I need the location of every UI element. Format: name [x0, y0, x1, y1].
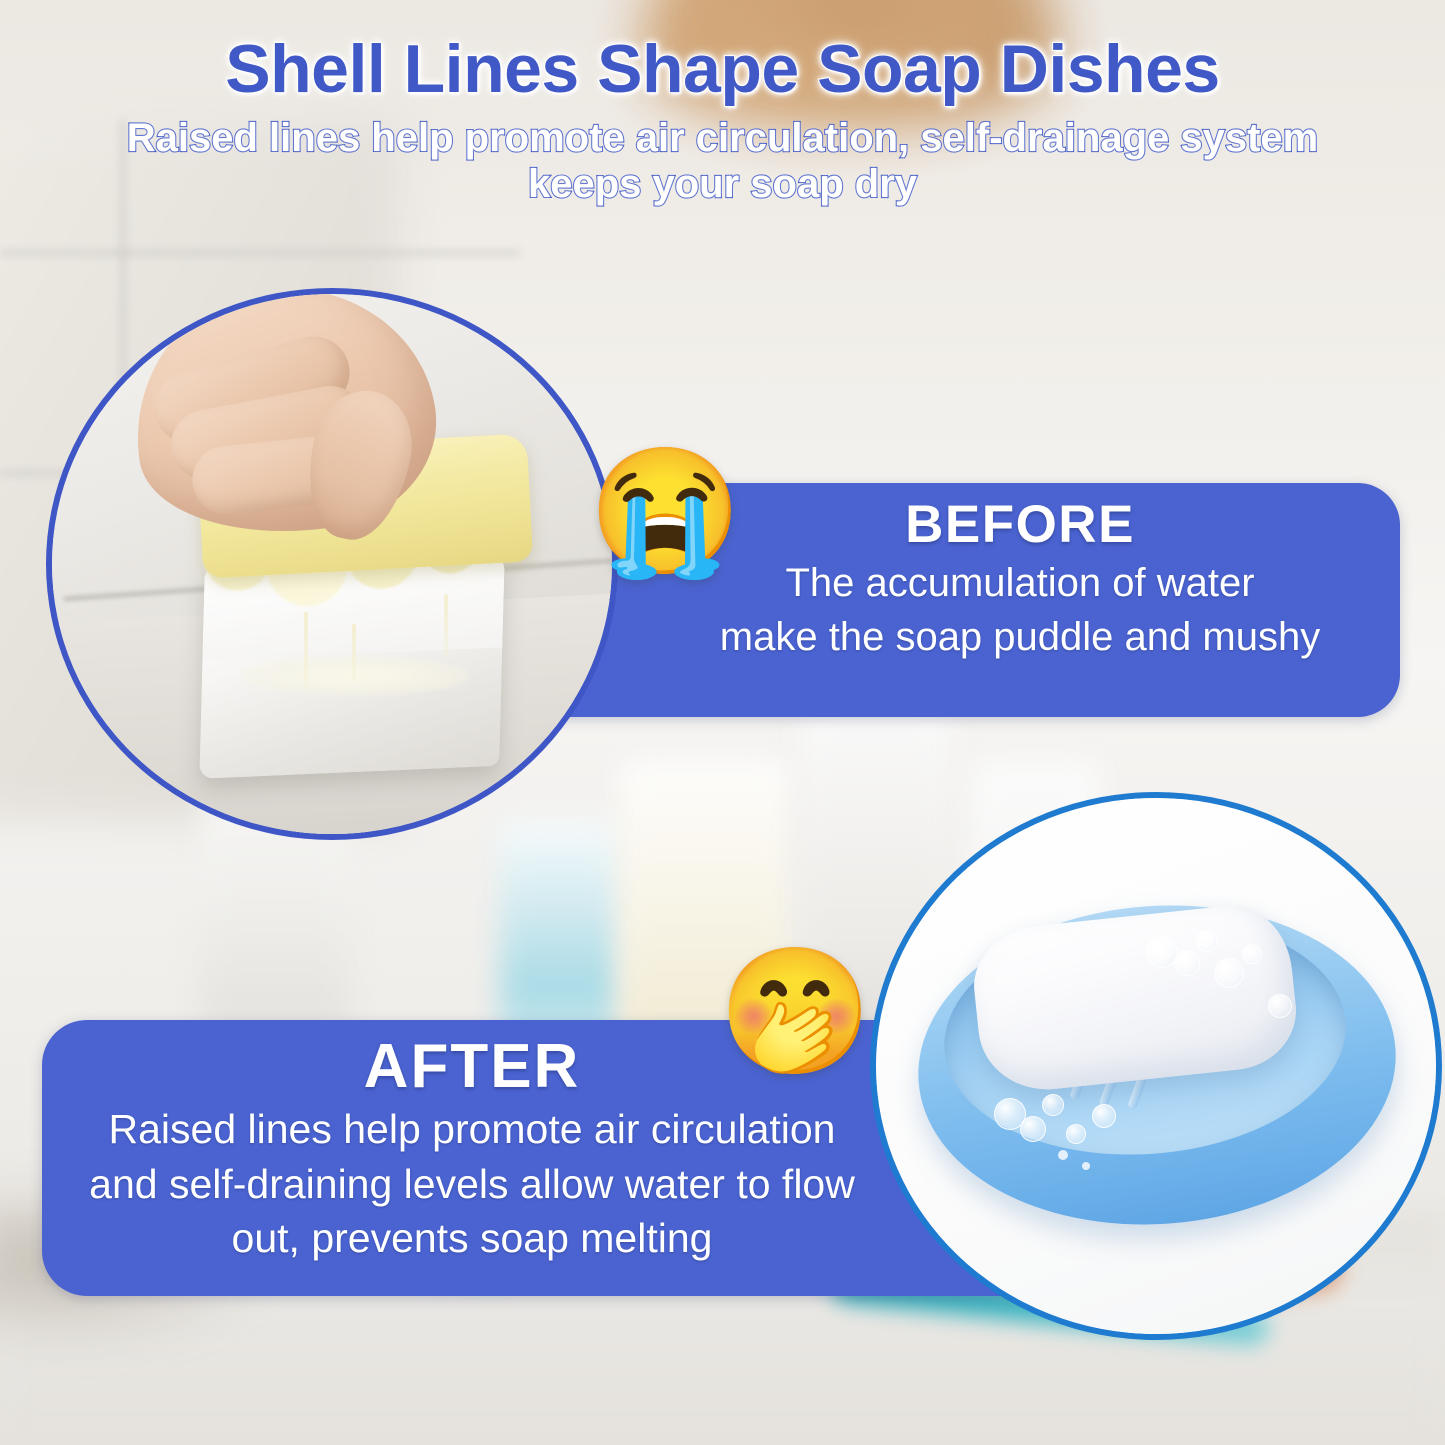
after-photo-bubble [1174, 950, 1200, 976]
after-photo [870, 792, 1442, 1340]
before-panel-content: BEFORE The accumulation of water make th… [650, 495, 1390, 662]
winking-face-with-pointing-hands-emoji: 🤭 [718, 950, 872, 1074]
after-photo-bubble [1268, 994, 1292, 1018]
page-subtitle: Raised lines help promote air circulatio… [123, 115, 1323, 208]
loudly-crying-face-emoji: 😭 [588, 450, 742, 574]
infographic-canvas: Shell Lines Shape Soap Dishes Raised lin… [0, 0, 1445, 1445]
after-photo-bubble [1196, 930, 1218, 952]
after-photo-white-soap-bar [968, 900, 1301, 1096]
after-photo-water-drop [1082, 1162, 1090, 1170]
after-photo-bubble [1242, 944, 1262, 964]
after-photo-bubble [1020, 1116, 1046, 1142]
after-photo-bubble [1214, 958, 1244, 988]
background-tile-line [0, 250, 520, 256]
header: Shell Lines Shape Soap Dishes Raised lin… [0, 0, 1445, 208]
after-photo-bubble [1066, 1124, 1086, 1144]
before-body-line-1: The accumulation of water [650, 558, 1390, 608]
after-photo-bubble [1042, 1094, 1064, 1116]
before-body-line-2: make the soap puddle and mushy [650, 612, 1390, 662]
after-body-line-2: and self-draining levels allow water to … [52, 1158, 892, 1210]
after-photo-bubble [1092, 1104, 1116, 1128]
after-body-line-1: Raised lines help promote air circulatio… [52, 1103, 892, 1155]
after-body-line-3: out, prevents soap melting [52, 1212, 892, 1264]
page-title: Shell Lines Shape Soap Dishes [0, 0, 1445, 105]
before-photo [46, 288, 618, 840]
after-photo-water-drop [1058, 1150, 1068, 1160]
before-heading: BEFORE [650, 495, 1390, 554]
